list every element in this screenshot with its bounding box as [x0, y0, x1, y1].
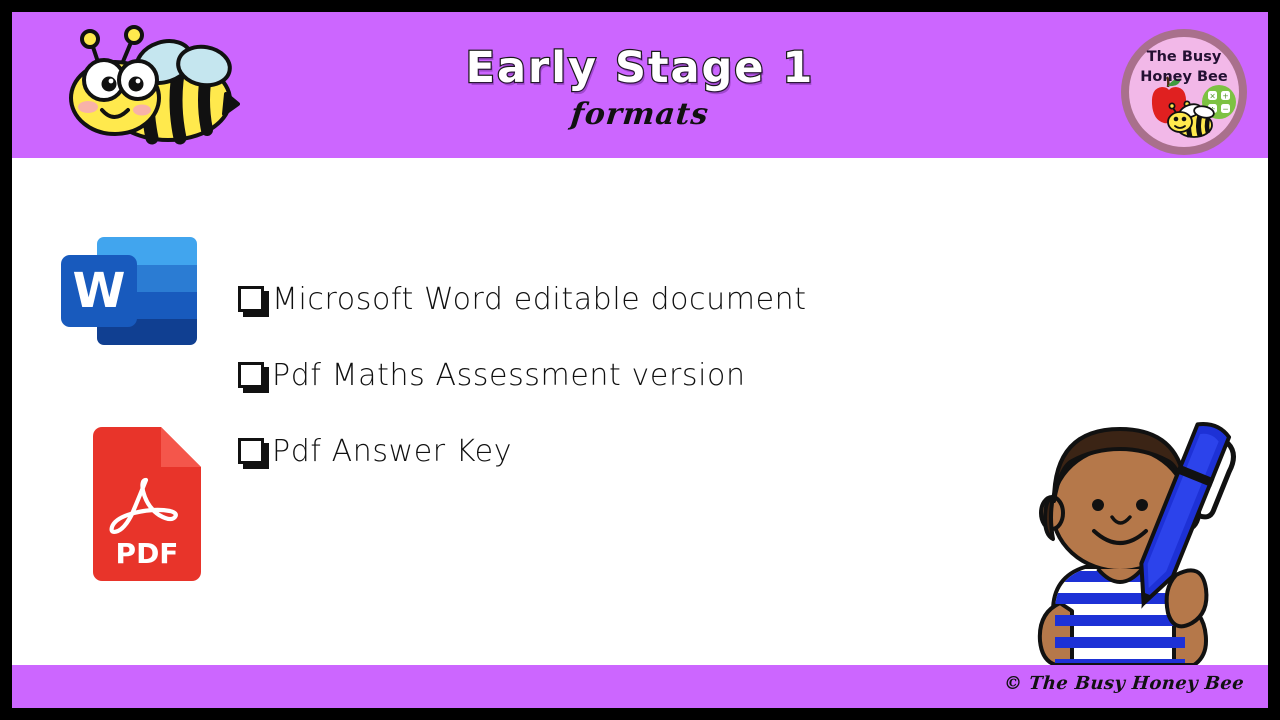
list-item[interactable]: Pdf Answer Key: [238, 413, 1058, 489]
format-label-pdf-answer-key: Pdf Answer Key: [272, 434, 512, 469]
slide-canvas: Early Stage 1 formats: [12, 12, 1268, 708]
format-checkbox-pdf-answer-key[interactable]: [238, 438, 264, 464]
header-band: Early Stage 1 formats: [12, 12, 1268, 158]
format-label-pdf-assessment: Pdf Maths Assessment version: [272, 358, 746, 393]
title-block: Early Stage 1 formats: [12, 12, 1268, 158]
formats-list: Microsoft Word editable document Pdf Mat…: [238, 261, 1058, 489]
list-item[interactable]: Pdf Maths Assessment version: [238, 337, 1058, 413]
pdf-file-icon: PDF: [85, 426, 207, 582]
page-subtitle: formats: [570, 100, 711, 130]
svg-text:−: −: [1222, 104, 1228, 113]
boy-with-pen-illustration: [990, 405, 1260, 665]
microsoft-word-icon: W: [59, 235, 199, 347]
page-title: Early Stage 1: [466, 41, 815, 90]
pdf-icon-label: PDF: [116, 537, 179, 570]
brand-logo-graphic: × + ÷ −: [1118, 26, 1250, 158]
format-checkbox-word[interactable]: [238, 286, 264, 312]
copyright-text: © The Busy Honey Bee: [1003, 673, 1245, 694]
format-label-word: Microsoft Word editable document: [272, 282, 807, 317]
svg-text:×: ×: [1209, 91, 1215, 100]
brand-logo: × + ÷ −: [1118, 26, 1250, 158]
format-checkbox-pdf-assessment[interactable]: [238, 362, 264, 388]
list-item[interactable]: Microsoft Word editable document: [238, 261, 1058, 337]
word-icon-letter: W: [73, 263, 126, 319]
content-area: W PDF Microsoft Word editable document P…: [12, 158, 1268, 665]
svg-text:+: +: [1222, 91, 1228, 100]
footer-band: © The Busy Honey Bee: [12, 665, 1268, 708]
